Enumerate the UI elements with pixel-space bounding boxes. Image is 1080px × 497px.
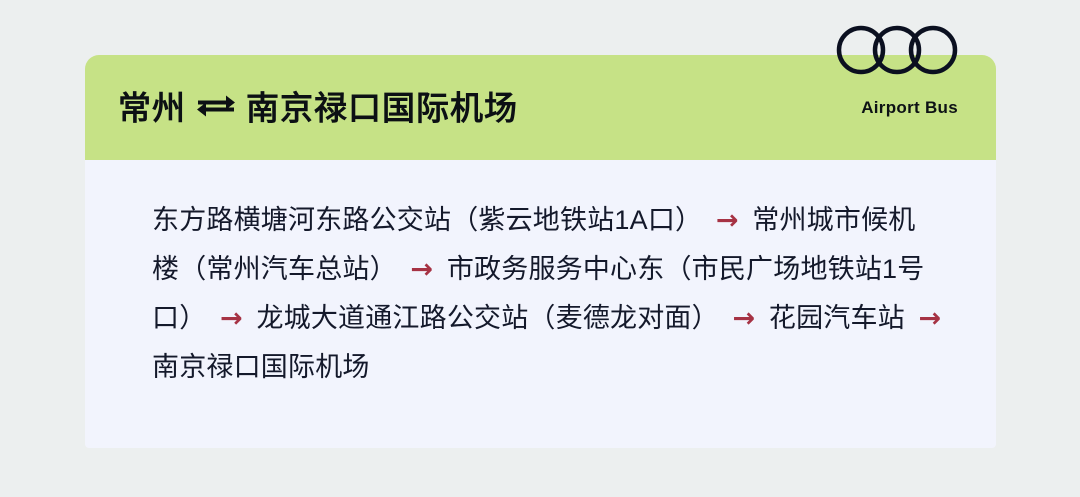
route-destination: 南京禄口国际机场 <box>246 89 518 126</box>
route-info-card: 常州 南京禄口国际机场 Airport Bus 东方路横塘河东路公交站（紫云地铁… <box>85 55 996 448</box>
service-type-label: Airport Bus <box>861 98 958 118</box>
leg-arrow-icon: → <box>206 303 256 334</box>
leg-arrow-icon: → <box>905 303 945 334</box>
route-title: 常州 南京禄口国际机场 <box>118 91 518 124</box>
stop-name: 南京禄口国际机场 <box>152 352 370 382</box>
bidirectional-arrow-icon <box>196 89 236 122</box>
card-body: 东方路横塘河东路公交站（紫云地铁站1A口） → 常州城市候机楼（常州汽车总站） … <box>85 160 996 448</box>
leg-arrow-icon: → <box>719 303 769 334</box>
leg-arrow-icon: → <box>397 254 447 285</box>
three-rings-logo-icon <box>835 25 970 75</box>
route-origin: 常州 <box>118 89 186 126</box>
stop-sequence-text: 东方路横塘河东路公交站（紫云地铁站1A口） → 常州城市候机楼（常州汽车总站） … <box>152 196 942 392</box>
stop-name: 东方路横塘河东路公交站（紫云地铁站1A口） <box>152 205 702 235</box>
leg-arrow-icon: → <box>702 205 752 236</box>
stop-name: 花园汽车站 <box>769 303 905 333</box>
stop-name: 龙城大道通江路公交站（麦德龙对面） <box>256 303 718 333</box>
